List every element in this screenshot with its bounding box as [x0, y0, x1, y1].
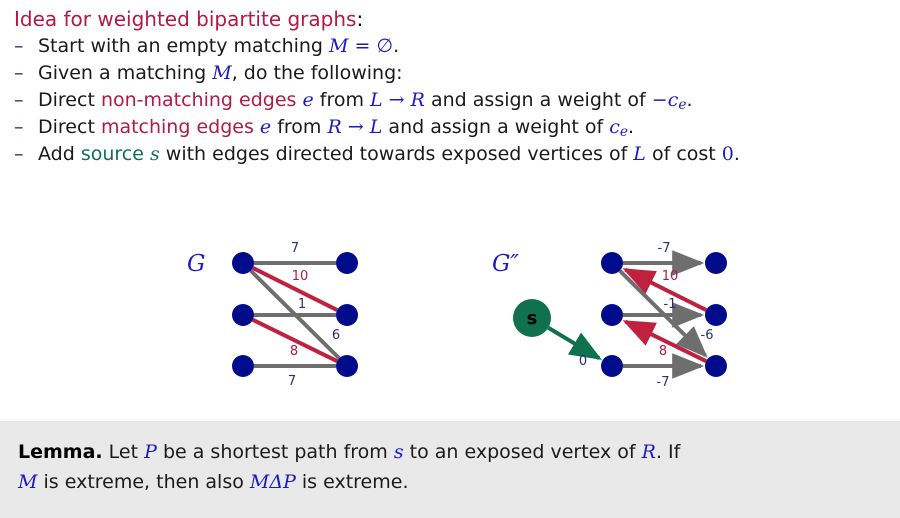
page-title: Idea for weighted bipartite graphs: [14, 6, 363, 32]
bullet1-run-2: = [349, 35, 377, 57]
graph-node-l1 [601, 252, 623, 274]
figure-area: G G″ 7101687 0-710-1-68-7 s [0, 222, 900, 398]
graph-node-r1 [705, 252, 727, 274]
edge-weight-l2-r2: -6 [701, 328, 714, 343]
edge-weight-l2-r2: 6 [332, 328, 340, 343]
bullet-dash-3: – [14, 87, 38, 114]
lemma1-run-5: to an exposed vertex of [404, 441, 642, 463]
bullet2-run-2: , do the following: [232, 62, 403, 84]
bullet-item-2: –Given a matching M, do the following: [14, 60, 894, 87]
bullet5-run-4: with edges directed towards exposed vert… [160, 143, 634, 165]
bullet2-run-0: Given a matching [38, 62, 212, 84]
bullet4-run-8: and assign a weight of [382, 116, 609, 138]
bullet-text-2: Given a matching M, do the following: [38, 60, 403, 87]
graph-node-l3 [232, 355, 254, 377]
bullet3-run-0: Direct [38, 89, 101, 111]
graph-node-r3 [705, 355, 727, 377]
source-node: s [513, 299, 551, 337]
bullet3-run-8: and assign a weight of [425, 89, 652, 111]
bullet-text-1: Start with an empty matching M = ∅. [38, 33, 399, 60]
lemma-box: Lemma. Let P be a shortest path from s t… [0, 421, 900, 518]
page-title-highlight: Idea for weighted bipartite graphs [14, 7, 356, 31]
edge-weight-s-l3: 0 [579, 354, 587, 369]
edge-weight-r2-l1: 10 [662, 269, 679, 284]
lemma2-run-1: is extreme, then also [37, 471, 249, 493]
bullet1-run-3: ∅ [377, 35, 394, 57]
bullet-text-5: Add source s with edges directed towards… [38, 141, 740, 168]
bullet2-run-1: M [212, 62, 231, 84]
bullet4-run-6: → [342, 116, 370, 138]
edge-weight-r3-l2: 8 [659, 344, 667, 359]
graph-node-l2 [232, 304, 254, 326]
edge-weight-l3-r3: 7 [288, 374, 296, 389]
bullet4-run-3: e [260, 116, 271, 138]
bullet4-run-5: R [327, 116, 341, 138]
lemma-line-2: M is extreme, then also MΔP is extreme. [18, 467, 882, 497]
bullet4-run-0: Direct [38, 116, 101, 138]
lemma1-run-6: R [642, 441, 656, 463]
bullet1-run-0: Start with an empty matching [38, 35, 329, 57]
lemma1-run-3: be a shortest path from [157, 441, 394, 463]
bullet-item-5: –Add source s with edges directed toward… [14, 141, 894, 168]
lemma-line-1: Lemma. Let P be a shortest path from s t… [18, 437, 882, 467]
right-graph-edges [548, 263, 706, 366]
figure-label-G2: G″ [492, 251, 519, 277]
bullet3-run-1: non-matching edges [101, 89, 296, 111]
lemma1-run-2: P [144, 441, 157, 463]
bullet-item-4: –Direct matching edges e from R → L and … [14, 114, 894, 141]
edge-weight-l1-r3: 1 [298, 297, 306, 312]
bullet1-run-4: . [393, 35, 399, 57]
graph-node-l2 [601, 304, 623, 326]
bullet-dash-1: – [14, 33, 38, 60]
edge-weight-l1-r3: -1 [664, 297, 677, 312]
lemma2-run-2: MΔP [250, 471, 296, 493]
bullet5-run-6: of cost [646, 143, 722, 165]
figure-label-G: G [187, 251, 205, 277]
edge-weight-l3-r3: -7 [657, 375, 670, 390]
page-title-tail: : [356, 7, 363, 31]
graph-node-l3 [601, 355, 623, 377]
bullet-list: –Start with an empty matching M = ∅.–Giv… [14, 33, 894, 168]
lemma1-run-1: Let [103, 441, 144, 463]
bullet-item-3: –Direct non-matching edges e from L → R … [14, 87, 894, 114]
bullet4-run-1: matching edges [101, 116, 254, 138]
source-node-label: s [527, 308, 538, 329]
bullet5-run-8: . [734, 143, 740, 165]
bullet5-run-3: s [150, 143, 160, 165]
bullet3-run-3: e [302, 89, 313, 111]
bullet4-run-7: L [370, 116, 383, 138]
graph-node-l1 [232, 252, 254, 274]
bullet3-run-6: → [383, 89, 411, 111]
lemma2-run-0: M [18, 471, 37, 493]
bullet5-run-5: L [633, 143, 646, 165]
bullet3-run-7: R [411, 89, 425, 111]
graph-node-r3 [336, 355, 358, 377]
lemma1-run-7: . If [656, 441, 680, 463]
lemma1-run-4: s [394, 441, 404, 463]
bullet3-run-11: . [686, 89, 692, 111]
graph-node-r2 [705, 304, 727, 326]
bullet1-run-1: M [329, 35, 348, 57]
edge-weight-l1-r1: 7 [291, 241, 299, 256]
bullet5-run-0: Add [38, 143, 81, 165]
edge-weight-l2-r3: 8 [290, 344, 298, 359]
lemma2-run-3: is extreme. [296, 471, 409, 493]
graph-node-r2 [336, 304, 358, 326]
bullet3-run-5: L [370, 89, 383, 111]
bullet3-run-9: −c [652, 89, 679, 111]
edge-s-l3 [548, 328, 599, 359]
bullet-item-1: –Start with an empty matching M = ∅. [14, 33, 894, 60]
bullet4-run-9: c [609, 116, 620, 138]
bullet-dash-2: – [14, 60, 38, 87]
bullet5-run-7: 0 [722, 143, 734, 165]
edge-weight-l1-r1: -7 [658, 241, 671, 256]
lemma1-run-0: Lemma. [18, 441, 103, 463]
bullet-dash-4: – [14, 114, 38, 141]
bullet-dash-5: – [14, 141, 38, 168]
edge-weight-l1-r2: 10 [292, 269, 309, 284]
bullet4-run-4: from [271, 116, 327, 138]
graph-node-r1 [336, 252, 358, 274]
bullet4-run-11: . [628, 116, 634, 138]
bullet3-run-4: from [314, 89, 370, 111]
bullet5-run-1: source [81, 143, 144, 165]
bullet4-run-10: e [620, 124, 628, 140]
